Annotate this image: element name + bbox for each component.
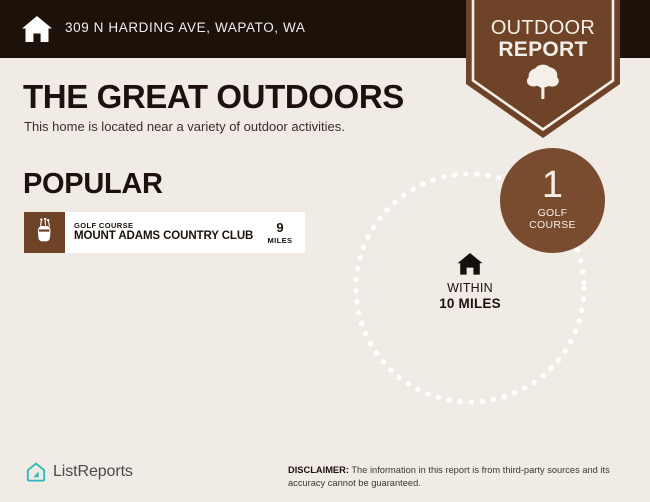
badge-title-line2: REPORT <box>466 39 620 60</box>
listreports-house-icon <box>26 462 46 482</box>
list-item-name: MOUNT ADAMS COUNTRY CLUB <box>74 230 257 244</box>
listreports-logo[interactable]: ListReports <box>26 462 133 482</box>
section-heading-popular: POPULAR <box>23 168 163 201</box>
count-bubble-label: GOLF COURSE <box>529 207 576 231</box>
disclaimer: DISCLAIMER: The information in this repo… <box>288 464 640 490</box>
home-icon <box>21 13 53 45</box>
list-item-distance-unit: MILES <box>268 236 293 245</box>
list-item-icon-box <box>24 212 65 253</box>
center-home-marker: WITHIN 10 MILES <box>415 252 525 311</box>
golf-bag-icon <box>34 218 56 247</box>
page-title: THE GREAT OUTDOORS <box>23 78 404 116</box>
outdoor-report-badge: OUTDOOR REPORT <box>466 0 620 140</box>
list-item-distance-value: 9 <box>276 221 283 234</box>
center-marker-label-line2: 10 MILES <box>439 296 501 311</box>
count-bubble-golf-course: 1 GOLF COURSE <box>500 148 605 253</box>
home-icon <box>457 252 483 276</box>
disclaimer-label: DISCLAIMER: <box>288 465 349 475</box>
tree-icon <box>526 64 560 100</box>
list-item-distance: 9 MILES <box>257 212 305 253</box>
list-item-category: GOLF COURSE <box>74 221 257 230</box>
list-item-text: GOLF COURSE MOUNT ADAMS COUNTRY CLUB <box>65 212 257 253</box>
listreports-logo-text: ListReports <box>53 463 133 481</box>
popular-list: GOLF COURSE MOUNT ADAMS COUNTRY CLUB 9 M… <box>24 212 305 253</box>
count-bubble-label-line1: GOLF <box>538 207 568 219</box>
center-marker-label-line1: WITHIN <box>447 281 493 295</box>
property-address: 309 N HARDING AVE, WAPATO, WA <box>65 20 305 35</box>
count-bubble-label-line2: COURSE <box>529 219 576 231</box>
page-subtitle: This home is located near a variety of o… <box>24 119 345 134</box>
count-bubble-number: 1 <box>542 168 563 202</box>
outdoor-report-page: 309 N HARDING AVE, WAPATO, WA OUTDOOR RE… <box>0 0 650 502</box>
list-item[interactable]: GOLF COURSE MOUNT ADAMS COUNTRY CLUB 9 M… <box>24 212 305 253</box>
badge-title-line1: OUTDOOR <box>466 18 620 38</box>
